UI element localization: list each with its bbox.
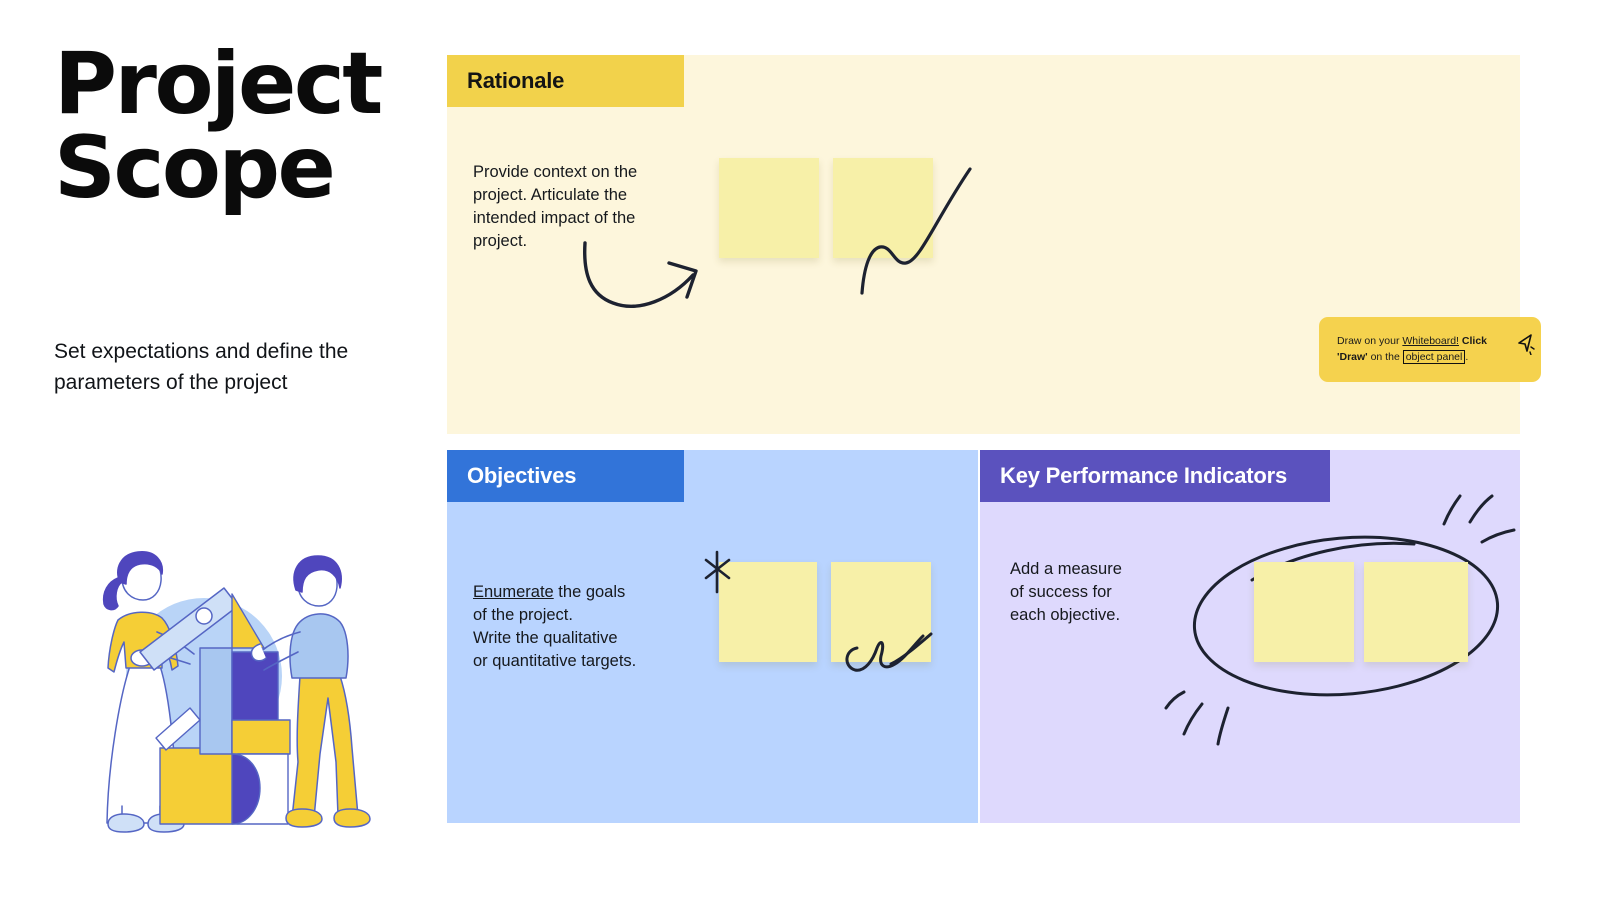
sticky-note[interactable] [833,158,933,258]
panel-kpi-description: Add a measure of success for each object… [1010,558,1200,627]
block-yellow-big [160,748,238,824]
draw-tooltip-text: Draw on your Whiteboard! Click 'Draw' on… [1319,334,1541,364]
two-people-stacking-blocks-illustration [52,548,382,838]
sticky-note[interactable] [719,158,819,258]
objectives-underlined-word: Enumerate [473,583,554,601]
panel-objectives[interactable]: Objectives Enumerate the goals of the pr… [447,450,978,823]
tooltip-text-draw: 'Draw' [1337,351,1368,363]
tooltip-text-part1: Draw on your [1337,335,1402,347]
sticky-note[interactable] [719,562,817,662]
panel-objectives-title: Objectives [467,463,576,489]
page-title-line1: Project [54,42,434,126]
panel-rationale-title: Rationale [467,68,564,94]
panel-kpi[interactable]: Key Performance Indicators Add a measure… [980,450,1520,823]
sticky-note[interactable] [1254,562,1354,662]
page-title-line2: Scope [54,126,434,210]
cursor-arrow-icon [1513,333,1535,355]
page-title: Project Scope [54,42,434,211]
panel-rationale-header: Rationale [447,55,684,107]
panel-objectives-description: Enumerate the goals of the project. Writ… [473,558,703,673]
panel-objectives-header: Objectives [447,450,684,502]
slide-canvas: Project Scope Set expectations and defin… [0,0,1600,900]
left-column: Project Scope Set expectations and defin… [0,0,440,900]
tooltip-text-whiteboard: Whiteboard! [1402,335,1459,347]
block-lightblue-tall [200,648,232,754]
page-subtitle: Set expectations and define the paramete… [54,336,394,398]
sticky-note[interactable] [1364,562,1468,662]
tooltip-text-end: . [1465,351,1468,363]
tooltip-text-object-panel: object panel [1403,350,1466,364]
block-yellow-wide [232,720,290,754]
sticky-note[interactable] [831,562,931,662]
panel-rationale[interactable]: Rationale Provide context on the project… [447,55,1520,434]
panel-kpi-title: Key Performance Indicators [1000,463,1287,489]
tooltip-text-part2: on the [1368,351,1403,363]
draw-tooltip[interactable]: Draw on your Whiteboard! Click 'Draw' on… [1319,317,1541,382]
panel-rationale-description: Provide context on the project. Articula… [473,161,693,253]
tooltip-text-click: Click [1459,335,1487,347]
panel-kpi-header: Key Performance Indicators [980,450,1330,502]
